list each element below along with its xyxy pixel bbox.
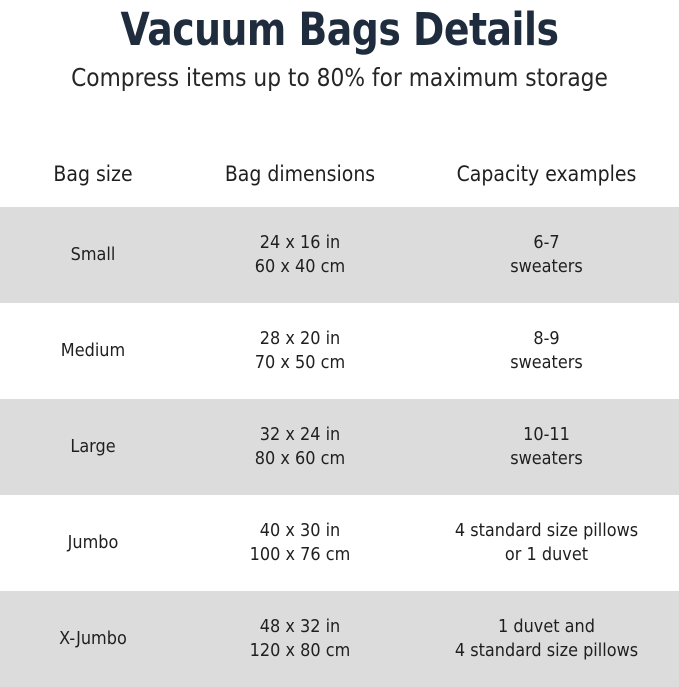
cell-bag-size: Medium: [0, 303, 186, 399]
cell-bag-size: X-Jumbo: [0, 591, 186, 687]
capacity-value: 4 standard size pillows or 1 duvet: [425, 519, 669, 567]
bag-size-value: Medium: [7, 339, 178, 363]
bag-size-value: X-Jumbo: [7, 627, 178, 651]
table-row: Medium 28 x 20 in 70 x 50 cm 8-9 sweater…: [0, 303, 679, 399]
bag-dimensions-value: 24 x 16 in 60 x 40 cm: [195, 231, 405, 279]
vacuum-bags-details-page: Vacuum Bags Details Compress items up to…: [0, 0, 679, 637]
cell-bag-size: Large: [0, 399, 186, 495]
capacity-value: 1 duvet and 4 standard size pillows: [425, 615, 669, 663]
cell-capacity-examples: 1 duvet and 4 standard size pillows: [414, 591, 679, 687]
bag-dimensions-value: 48 x 32 in 120 x 80 cm: [195, 615, 405, 663]
capacity-value: 6-7 sweaters: [425, 231, 669, 279]
cell-bag-dimensions: 40 x 30 in 100 x 76 cm: [186, 495, 414, 591]
header-block: Vacuum Bags Details Compress items up to…: [0, 0, 679, 140]
cell-bag-size: Small: [0, 207, 186, 303]
capacity-value: 10-11 sweaters: [425, 423, 669, 471]
cell-bag-dimensions: 32 x 24 in 80 x 60 cm: [186, 399, 414, 495]
column-header-bag-dimensions: Bag dimensions: [197, 140, 402, 207]
table-row: Jumbo 40 x 30 in 100 x 76 cm 4 standard …: [0, 495, 679, 591]
table-row: X-Jumbo 48 x 32 in 120 x 80 cm 1 duvet a…: [0, 591, 679, 687]
bag-size-value: Large: [7, 435, 178, 459]
column-header-capacity-examples: Capacity examples: [427, 140, 666, 207]
cell-bag-dimensions: 28 x 20 in 70 x 50 cm: [186, 303, 414, 399]
page-title: Vacuum Bags Details: [54, 4, 624, 56]
bag-dimensions-value: 32 x 24 in 80 x 60 cm: [195, 423, 405, 471]
cell-capacity-examples: 6-7 sweaters: [414, 207, 679, 303]
cell-capacity-examples: 10-11 sweaters: [414, 399, 679, 495]
cell-bag-dimensions: 24 x 16 in 60 x 40 cm: [186, 207, 414, 303]
bag-size-value: Small: [7, 243, 178, 267]
bag-size-value: Jumbo: [7, 531, 178, 555]
table-row: Large 32 x 24 in 80 x 60 cm 10-11 sweate…: [0, 399, 679, 495]
capacity-value: 8-9 sweaters: [425, 327, 669, 375]
page-subtitle: Compress items up to 80% for maximum sto…: [44, 62, 635, 94]
table-header: Bag size Bag dimensions Capacity example…: [0, 140, 679, 207]
bag-dimensions-value: 40 x 30 in 100 x 76 cm: [195, 519, 405, 567]
column-header-bag-size: Bag size: [9, 140, 176, 207]
cell-bag-dimensions: 48 x 32 in 120 x 80 cm: [186, 591, 414, 687]
bag-dimensions-value: 28 x 20 in 70 x 50 cm: [195, 327, 405, 375]
cell-capacity-examples: 4 standard size pillows or 1 duvet: [414, 495, 679, 591]
table-header-row: Bag size Bag dimensions Capacity example…: [0, 140, 679, 207]
bag-specs-table: Bag size Bag dimensions Capacity example…: [0, 140, 679, 687]
cell-capacity-examples: 8-9 sweaters: [414, 303, 679, 399]
table-row: Small 24 x 16 in 60 x 40 cm 6-7 sweaters: [0, 207, 679, 303]
table-body: Small 24 x 16 in 60 x 40 cm 6-7 sweaters…: [0, 207, 679, 687]
cell-bag-size: Jumbo: [0, 495, 186, 591]
